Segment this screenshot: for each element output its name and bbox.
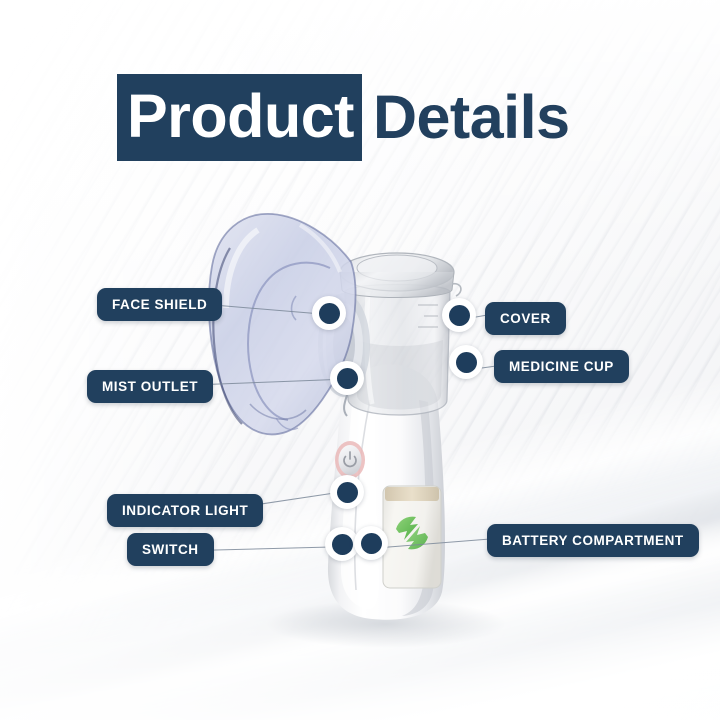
callout-label-battery-compartment[interactable]: BATTERY COMPARTMENT — [487, 524, 699, 557]
callout-label-switch[interactable]: SWITCH — [127, 533, 214, 566]
callout-dot-indicator-light[interactable] — [330, 475, 364, 509]
callout-dot-face-shield[interactable] — [312, 296, 346, 330]
callout-label-mist-outlet[interactable]: MIST OUTLET — [87, 370, 213, 403]
page-title: Product Details — [117, 74, 570, 161]
callout-dot-battery-compartment[interactable] — [354, 526, 388, 560]
callout-label-indicator-light[interactable]: INDICATOR LIGHT — [107, 494, 263, 527]
callout-label-face-shield[interactable]: FACE SHIELD — [97, 288, 222, 321]
page-title-highlight: Product — [117, 74, 362, 161]
callout-dot-mist-outlet[interactable] — [330, 361, 364, 395]
page-title-rest: Details — [362, 87, 570, 148]
callout-dot-medicine-cup[interactable] — [449, 345, 483, 379]
product-details-infographic: Product Details — [0, 0, 720, 720]
callout-label-medicine-cup[interactable]: MEDICINE CUP — [494, 350, 629, 383]
callout-dot-cover[interactable] — [442, 298, 476, 332]
callout-label-cover[interactable]: COVER — [485, 302, 566, 335]
